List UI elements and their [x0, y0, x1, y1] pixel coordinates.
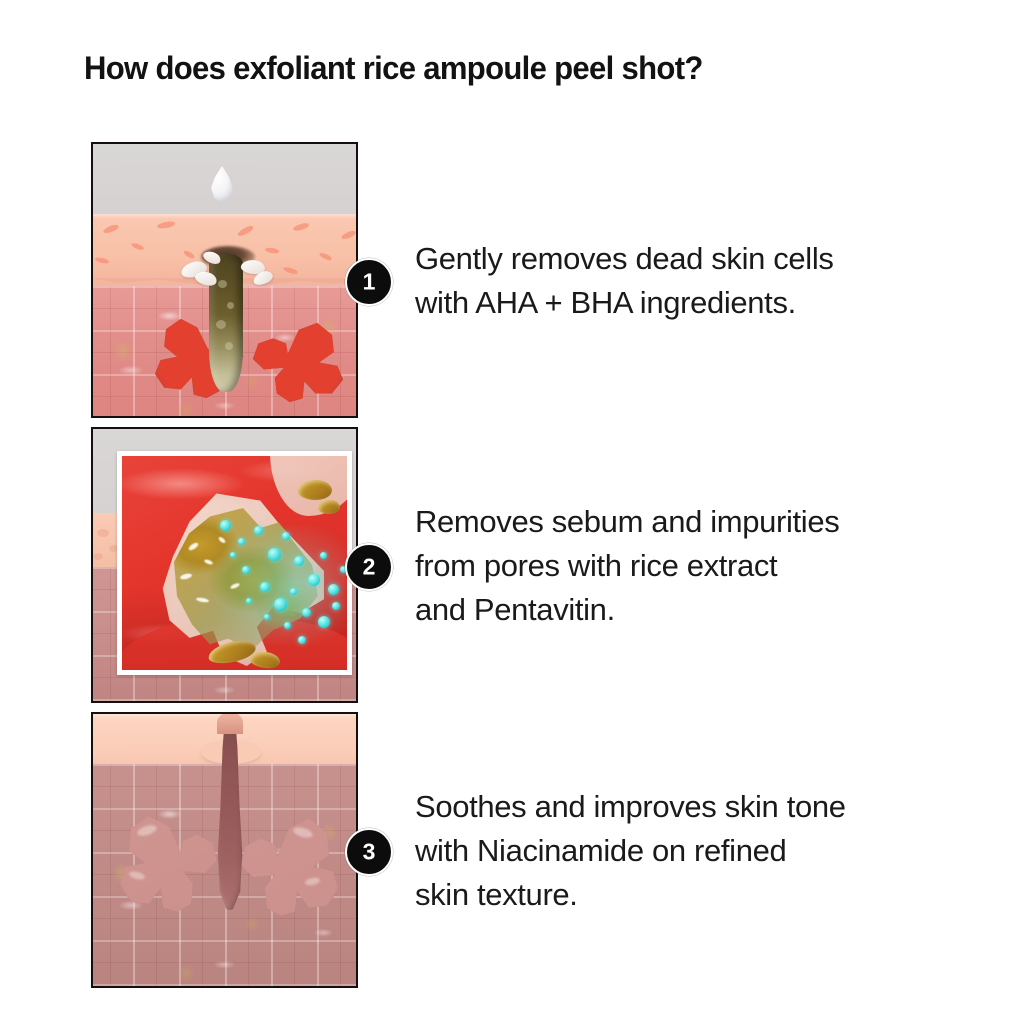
active-particle [290, 588, 297, 595]
step-3-line-3: skin texture. [415, 873, 945, 917]
active-particle [238, 538, 245, 545]
step-number-1: 1 [363, 270, 376, 293]
magnified-tissue [122, 456, 347, 670]
step-3-line-2: with Niacinamide on refined [415, 829, 945, 873]
active-particle [294, 556, 304, 566]
step-number-3: 3 [363, 840, 376, 863]
active-particle [254, 526, 263, 535]
step-2-line-2: from pores with rice extract [415, 544, 945, 588]
step-3-text: Soothes and improves skin tone with Niac… [415, 785, 945, 917]
step-1-text: Gently removes dead skin cells with AHA … [415, 237, 945, 325]
step-badge-2: 2 [345, 543, 393, 591]
step-2-line-3: and Pentavitin. [415, 588, 945, 632]
active-particle [308, 574, 320, 586]
active-particle [242, 566, 250, 574]
active-particle [302, 608, 311, 617]
active-particle [264, 614, 270, 620]
active-particle [332, 602, 340, 610]
page-title: How does exfoliant rice ampoule peel sho… [84, 50, 924, 87]
sebum-blob [298, 480, 332, 500]
active-particle [328, 584, 339, 595]
sebum-dissolving-illustration [91, 427, 358, 703]
clean-pore-illustration [91, 712, 358, 988]
sebum-blob [318, 500, 340, 514]
active-particle [284, 622, 291, 629]
step-2-text: Removes sebum and impurities from pores … [415, 500, 945, 632]
step-2-line-1: Removes sebum and impurities [415, 500, 945, 544]
step-number-2: 2 [363, 555, 376, 578]
active-particle [298, 636, 306, 644]
active-particle [260, 582, 270, 592]
follicle-opening [217, 714, 243, 734]
active-particle [230, 552, 236, 558]
active-particle [220, 520, 231, 531]
clogged-pore-illustration [91, 142, 358, 418]
step-badge-1: 1 [345, 258, 393, 306]
active-particle [282, 532, 290, 540]
magnified-inset-frame [117, 451, 352, 675]
active-particle [320, 552, 327, 559]
active-particle [246, 598, 252, 604]
step-1-line-1: Gently removes dead skin cells [415, 237, 945, 281]
active-particle [318, 616, 330, 628]
active-particle [274, 598, 287, 611]
active-particle [268, 548, 281, 561]
step-3-line-1: Soothes and improves skin tone [415, 785, 945, 829]
step-badge-3: 3 [345, 828, 393, 876]
step-1-line-2: with AHA + BHA ingredients. [415, 281, 945, 325]
